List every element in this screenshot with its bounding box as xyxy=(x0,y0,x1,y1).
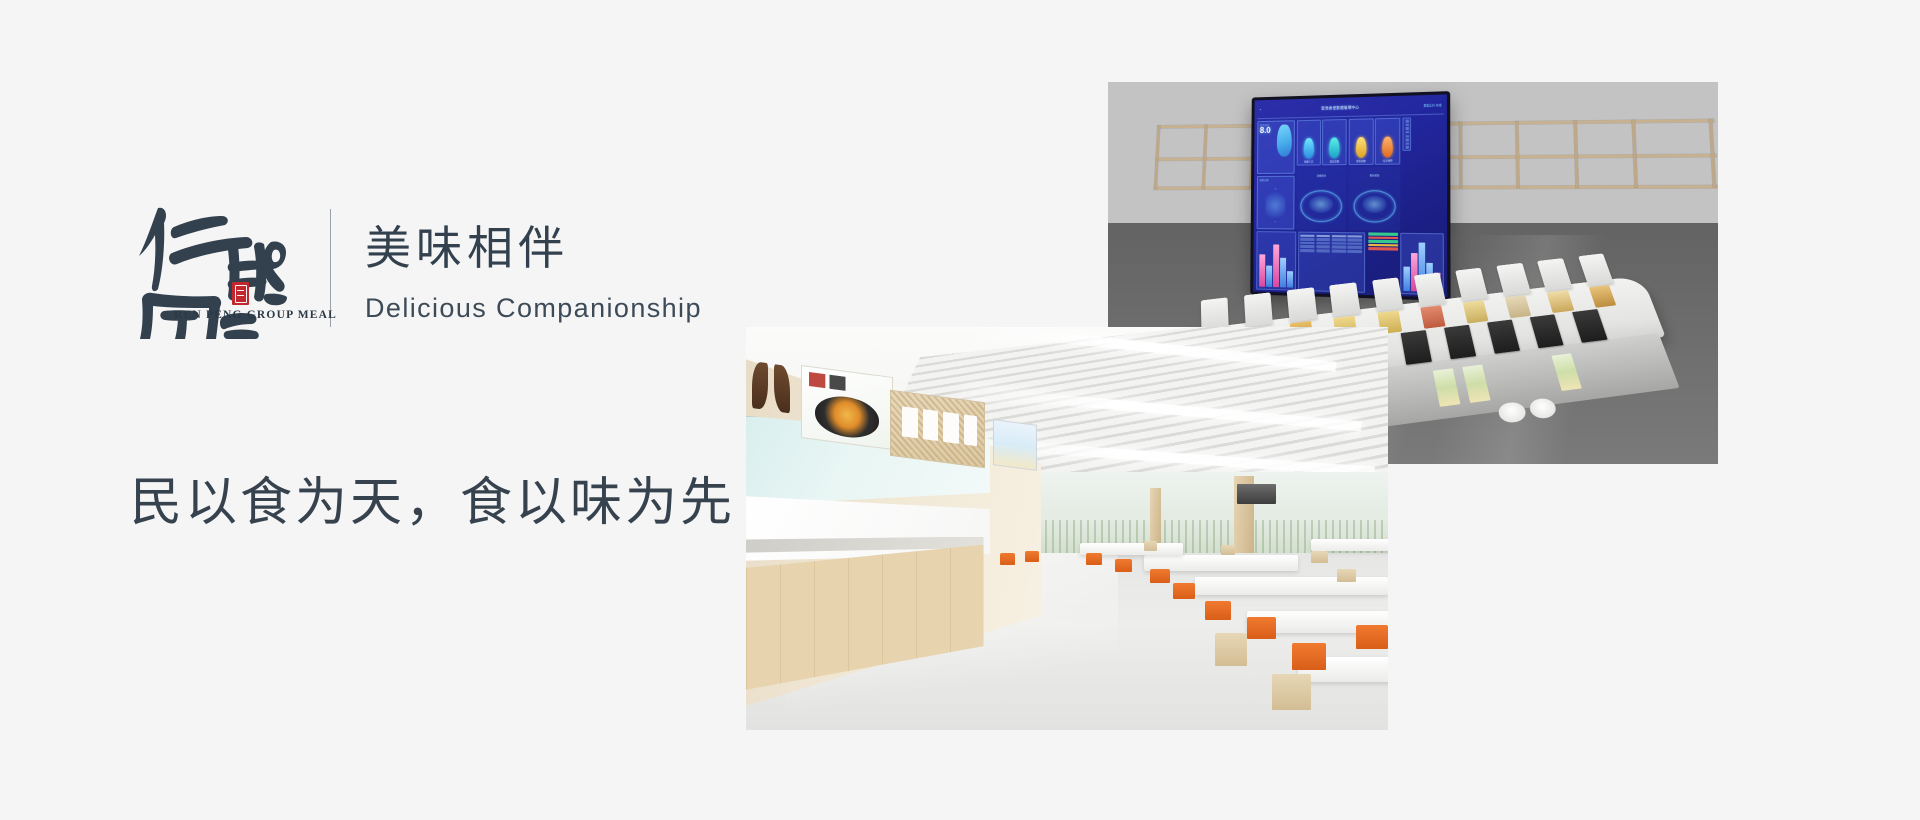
dish-photo-lightbox-sign xyxy=(801,365,893,450)
dashboard-left-column: 综合评分 8.0 营养分析 xyxy=(1257,120,1295,229)
canteen-scene xyxy=(746,327,1388,730)
bar-chart-left xyxy=(1256,231,1296,291)
nutrition-label: 营养分析 xyxy=(1260,178,1292,182)
kpi-card: 菜品总数 xyxy=(1323,119,1348,166)
radar-row: 消费趋势 食材溯源 xyxy=(1296,167,1400,231)
dining-chair xyxy=(1144,541,1157,551)
slogan-english: Delicious Companionship xyxy=(365,292,702,324)
radar-chart: 消费趋势 xyxy=(1296,168,1347,231)
menu-display-screen xyxy=(993,419,1037,471)
dining-chair xyxy=(1356,625,1388,649)
brand-lockup: REN PENG GROUP MEAL 美味相伴 Delicious Compa… xyxy=(128,205,702,335)
dining-chair xyxy=(1337,569,1356,583)
canteen-interior-photo xyxy=(746,327,1388,730)
renpeng-calligraphy-logo: REN PENG GROUP MEAL xyxy=(128,196,288,344)
side-data-table xyxy=(1403,117,1412,151)
slogan-block: 美味相伴 Delicious Companionship xyxy=(365,216,702,324)
kpi-indicator-icon xyxy=(1330,138,1340,158)
dashboard-center-column: 就餐人次 菜品总数 营收金额 xyxy=(1296,118,1400,231)
kpi-label: 菜品总数 xyxy=(1330,159,1339,163)
kpi-row: 就餐人次 菜品总数 营收金额 xyxy=(1297,118,1401,166)
nutrition-radar-card: 营养分析 xyxy=(1257,176,1295,230)
dining-chair xyxy=(1247,617,1277,639)
kpi-indicator-icon xyxy=(1383,137,1394,157)
dining-chair xyxy=(1292,643,1327,670)
dining-chair xyxy=(1173,583,1195,599)
dining-chair xyxy=(1311,551,1328,563)
kpi-card: 就餐人次 xyxy=(1297,120,1321,166)
dining-chair xyxy=(1221,545,1235,555)
chef-avatar-illustration xyxy=(1277,124,1292,156)
dashboard-right-column xyxy=(1403,117,1444,232)
headline-chinese: 民以食为天，食以味为先 xyxy=(130,470,735,536)
status-badge xyxy=(1368,240,1399,243)
dining-chair xyxy=(1000,553,1015,565)
kpi-label: 库存预警 xyxy=(1383,158,1393,162)
kpi-indicator-icon xyxy=(1304,139,1314,159)
dining-table xyxy=(1311,539,1388,551)
dashboard-body: 综合评分 8.0 营养分析 xyxy=(1257,115,1444,234)
kpi-indicator-icon xyxy=(1356,138,1367,158)
dashboard-title: 智慧食堂数据管理中心 xyxy=(1322,105,1360,111)
wall-decoration xyxy=(749,358,797,417)
hexagon-chart-icon xyxy=(1264,188,1287,222)
slogan-chinese: 美味相伴 xyxy=(365,220,702,276)
dining-chair xyxy=(1115,559,1132,572)
dining-chair xyxy=(1025,551,1039,562)
dining-chair xyxy=(1215,633,1247,665)
dashboard-screen: ● 智慧食堂数据管理中心 数据实时·在线 综合评分 8.0 xyxy=(1254,95,1448,298)
kpi-label: 就餐人次 xyxy=(1304,159,1313,163)
brand-sign-text xyxy=(809,372,859,393)
kpi-card: 营收金额 xyxy=(1349,118,1374,165)
dining-chair xyxy=(1205,601,1231,620)
dining-table xyxy=(1195,577,1388,595)
red-seal-stamp xyxy=(232,282,249,305)
dashboard-logo-chip: ● xyxy=(1260,109,1262,112)
brand-english-name: REN PENG GROUP MEAL xyxy=(174,308,306,323)
dashboard-status-chip: 数据实时·在线 xyxy=(1424,103,1442,108)
radar-label: 消费趋势 xyxy=(1297,174,1347,178)
dining-chair xyxy=(1086,553,1101,565)
wall-mounted-dashboard-monitor[interactable]: ● 智慧食堂数据管理中心 数据实时·在线 综合评分 8.0 xyxy=(1251,91,1451,301)
hero-banner: REN PENG GROUP MEAL 美味相伴 Delicious Compa… xyxy=(0,0,1920,820)
radar-chart: 食材溯源 xyxy=(1349,167,1401,231)
kpi-label: 营收金额 xyxy=(1356,159,1366,163)
kpi-card: 库存预警 xyxy=(1375,118,1401,166)
status-badge xyxy=(1368,233,1399,236)
dining-chair xyxy=(1272,674,1311,710)
wall-tv-screen xyxy=(1237,484,1276,504)
score-card: 综合评分 8.0 xyxy=(1257,120,1295,174)
wok-dish-photo xyxy=(814,393,879,441)
dining-chair xyxy=(1150,569,1169,584)
radar-label: 食材溯源 xyxy=(1349,174,1401,178)
status-badge xyxy=(1368,248,1399,251)
self-select-meal-sign xyxy=(890,389,985,468)
